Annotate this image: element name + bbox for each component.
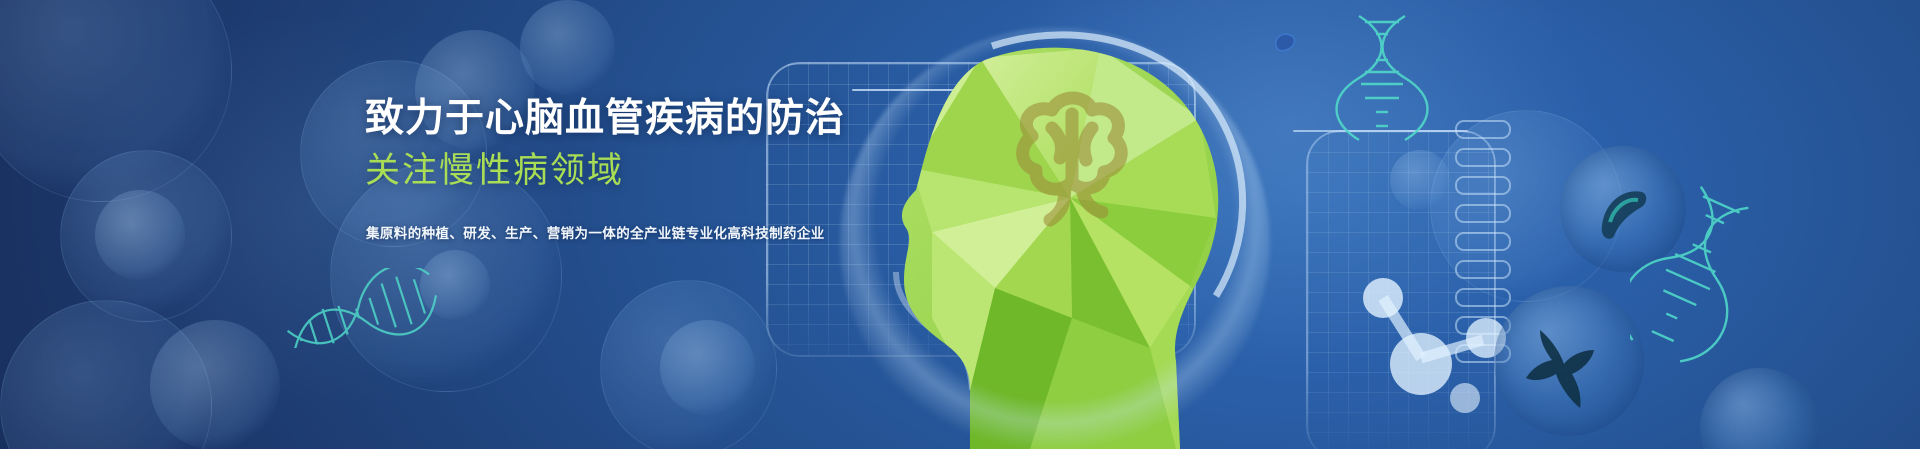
hud-bar	[1455, 288, 1511, 307]
hud-bar	[1455, 316, 1511, 335]
hud-grid-panel-right	[1306, 130, 1496, 449]
hud-bar	[1455, 176, 1511, 195]
hud-bar	[1455, 344, 1511, 363]
hud-top-rule-right	[1293, 130, 1468, 132]
bokeh-circle	[420, 250, 490, 320]
dna-helix-icon	[1630, 186, 1760, 366]
molecule-icon	[1353, 258, 1533, 418]
hud-bar	[1059, 300, 1115, 319]
cell-nucleus-icon	[1520, 312, 1620, 412]
bokeh-circle	[150, 320, 280, 449]
microbe-speck-icon	[1270, 30, 1300, 56]
hud-bar	[1059, 188, 1115, 207]
bokeh-circle	[0, 300, 212, 449]
headline-text: 致力于心脑血管疾病的防治	[365, 96, 985, 142]
hud-bar	[1455, 204, 1511, 223]
cell-graphic	[1494, 286, 1644, 436]
hero-banner: 致力于心脑血管疾病的防治 关注慢性病领域 集原料的种植、研发、生产、营销为一体的…	[0, 0, 1920, 449]
banner-copy: 致力于心脑血管疾病的防治 关注慢性病领域 集原料的种植、研发、生产、营销为一体的…	[365, 96, 985, 242]
dna-helix-icon	[1335, 12, 1430, 142]
bokeh-circle	[0, 0, 232, 202]
cell-graphic	[1700, 368, 1820, 449]
brain-icon	[1023, 98, 1122, 220]
cell-nucleus-icon	[1588, 176, 1660, 248]
hud-bar-stack-left	[1059, 160, 1115, 360]
bokeh-circle	[1430, 110, 1622, 302]
hud-bar	[1455, 260, 1511, 279]
dna-helix-icon	[278, 268, 438, 348]
hud-bar	[1059, 272, 1115, 291]
hud-bar	[1059, 160, 1115, 179]
bokeh-circle	[1020, 216, 1092, 288]
hud-bar	[1455, 232, 1511, 251]
ambient-glow	[980, 0, 1600, 370]
bokeh-circle	[520, 0, 615, 95]
subheadline-text: 关注慢性病领域	[365, 150, 985, 192]
hud-bar	[1059, 244, 1115, 263]
cell-graphic	[1560, 146, 1686, 272]
hud-bar	[1455, 148, 1511, 167]
bokeh-circle	[1390, 150, 1450, 210]
hud-bar-stack-right	[1455, 120, 1511, 370]
bokeh-circle	[95, 190, 185, 280]
tagline-text: 集原料的种植、研发、生产、营销为一体的全产业链专业化高科技制药企业	[366, 222, 985, 242]
bokeh-circle	[600, 280, 777, 449]
bokeh-circle	[660, 320, 755, 415]
hud-top-rule	[852, 89, 1092, 91]
hud-bar	[1059, 216, 1115, 235]
bokeh-circle	[60, 150, 232, 322]
hud-bar	[1455, 120, 1511, 139]
